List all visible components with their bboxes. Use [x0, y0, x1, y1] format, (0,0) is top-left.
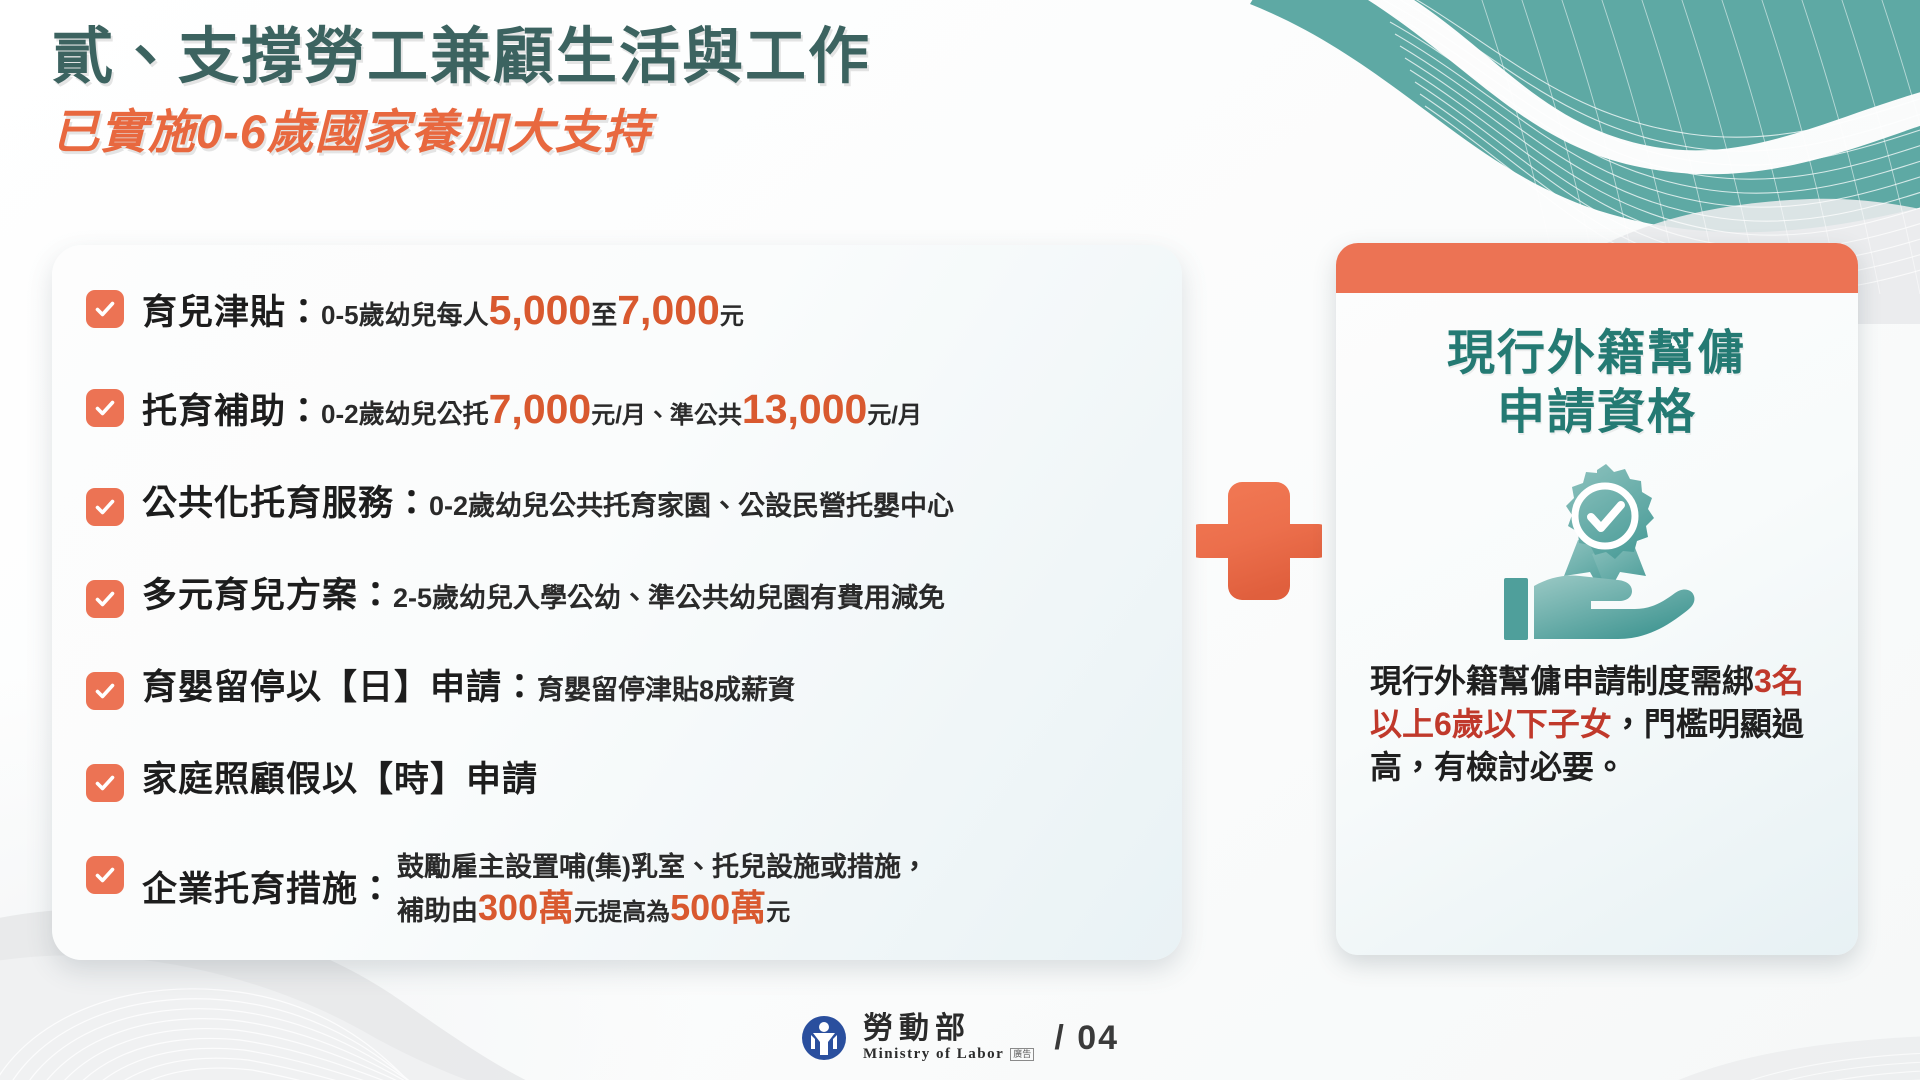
- check-icon: [86, 580, 124, 618]
- card-body-text: 現行外籍幫傭申請制度需綁3名以上6歲以下子女，門檻明顯過高，有檢討必要。: [1336, 660, 1858, 789]
- bullet-text-segment: 元/月: [867, 402, 922, 429]
- slide-header: 貳、支撐勞工兼顧生活與工作 已實施0-6歲國家養加大支持: [52, 22, 871, 158]
- logo-english-row: Ministry of Labor 廣告: [863, 1047, 1034, 1062]
- card-title-line2: 申請資格: [1447, 384, 1747, 443]
- list-item-lead: 育嬰留停以【日】申請: [142, 668, 502, 707]
- logo-chinese-name: 勞動部: [863, 1014, 1034, 1044]
- slide-footer: 勞動部 Ministry of Labor 廣告 / 04: [0, 1014, 1920, 1062]
- bullet-text-segment: 育嬰留停津貼8成薪資: [537, 675, 795, 705]
- medal-in-hand-icon: [1482, 462, 1712, 642]
- list-item: 家庭照顧假以【時】申請: [86, 757, 1148, 802]
- bullet-text-segment: 元/月、準公共: [591, 402, 742, 429]
- list-item-lead: 企業托育措施: [142, 870, 358, 909]
- list-item-lead: 公共化托育服務: [142, 484, 394, 523]
- advertisement-badge: 廣告: [1010, 1048, 1034, 1061]
- list-item: 育嬰留停以【日】申請：育嬰留停津貼8成薪資: [86, 665, 1148, 710]
- list-item-colon: ：: [358, 576, 393, 615]
- ministry-of-labor-logo-icon: [801, 1015, 847, 1061]
- page-number: / 04: [1054, 1019, 1119, 1058]
- bullet-text-segment: 7,000: [489, 386, 592, 432]
- list-item-lead: 家庭照顧假以【時】申請: [142, 760, 538, 799]
- check-icon: [86, 488, 124, 526]
- check-icon: [86, 764, 124, 802]
- list-item-text: 托育補助：0-2歲幼兒公托7,000元/月、準公共13,000元/月: [142, 382, 922, 434]
- list-item-lead: 多元育兒方案: [142, 576, 358, 615]
- check-icon: [86, 389, 124, 427]
- check-icon: [86, 672, 124, 710]
- list-item-colon: ：: [286, 293, 321, 332]
- list-item: 育兒津貼：0-5歲幼兒每人5,000至7,000元: [86, 283, 1148, 335]
- check-icon: [86, 856, 124, 894]
- list-item: 托育補助：0-2歲幼兒公托7,000元/月、準公共13,000元/月: [86, 382, 1148, 434]
- bullet-text-segment: 鼓勵雇主設置哺(集)乳室、托兒設施或措施，: [397, 852, 928, 882]
- slide-canvas: 貳、支撐勞工兼顧生活與工作 已實施0-6歲國家養加大支持 育兒津貼：0-5歲幼兒…: [0, 0, 1920, 1080]
- list-item: 企業托育措施：鼓勵雇主設置哺(集)乳室、托兒設施或措施，補助由300萬元提高為5…: [86, 849, 1148, 930]
- measures-card: 育兒津貼：0-5歲幼兒每人5,000至7,000元托育補助：0-2歲幼兒公托7,…: [52, 245, 1182, 960]
- card-accent-bar: [1336, 243, 1858, 293]
- page-title: 貳、支撐勞工兼顧生活與工作: [52, 22, 871, 90]
- list-item-lead: 育兒津貼: [142, 293, 286, 332]
- list-item-detail-lines: 鼓勵雇主設置哺(集)乳室、托兒設施或措施，補助由300萬元提高為500萬元: [397, 851, 928, 930]
- list-item-lead: 托育補助: [142, 392, 286, 431]
- bullet-text-segment: 0-2歲幼兒公托: [321, 399, 489, 429]
- list-item-text: 家庭照顧假以【時】申請: [142, 757, 538, 802]
- list-item-text: 企業托育措施：鼓勵雇主設置哺(集)乳室、托兒設施或措施，補助由300萬元提高為5…: [142, 849, 928, 930]
- bullet-text-segment: 300萬: [478, 887, 574, 928]
- bullet-text-segment: 5,000: [489, 287, 592, 333]
- bullet-text-segment: 0-2歲幼兒公共托育家園、公設民營托嬰中心: [429, 491, 954, 521]
- bullet-text-segment: 7,000: [617, 287, 720, 333]
- page-subtitle: 已實施0-6歲國家養加大支持: [52, 106, 871, 158]
- list-item-colon: ：: [358, 870, 393, 909]
- bullet-text-segment: 0-5歲幼兒每人: [321, 300, 489, 330]
- bullet-text-segment: 500萬: [670, 887, 766, 928]
- list-item-text: 公共化托育服務：0-2歲幼兒公共托育家園、公設民營托嬰中心: [142, 481, 954, 526]
- bullet-text-segment: 元提高為: [574, 899, 670, 926]
- list-item-colon: ：: [286, 392, 321, 431]
- bullet-text-segment: 元: [720, 303, 744, 330]
- list-item-lead-wrap: 企業托育措施：: [142, 869, 393, 912]
- list-item: 多元育兒方案：2-5歲幼兒入學公幼、準公共幼兒園有費用減免: [86, 573, 1148, 618]
- card-title-line1: 現行外籍幫傭: [1447, 325, 1747, 384]
- list-item-colon: ：: [502, 668, 537, 707]
- list-item-text: 多元育兒方案：2-5歲幼兒入學公幼、準公共幼兒園有費用減免: [142, 573, 945, 618]
- bullet-text-segment: 13,000: [742, 386, 867, 432]
- bullet-text-segment: 元: [766, 899, 790, 926]
- foreign-helper-card: 現行外籍幫傭 申請資格: [1336, 243, 1858, 955]
- list-item: 公共化托育服務：0-2歲幼兒公共托育家園、公設民營托嬰中心: [86, 481, 1148, 526]
- plus-icon: [1196, 478, 1322, 604]
- detail-line-1: 鼓勵雇主設置哺(集)乳室、托兒設施或措施，: [397, 851, 928, 884]
- logo-english-name: Ministry of Labor: [863, 1047, 1004, 1062]
- list-item-text: 育兒津貼：0-5歲幼兒每人5,000至7,000元: [142, 283, 744, 335]
- body-text-segment: 現行外籍幫傭申請制度需綁: [1370, 663, 1754, 699]
- card-title: 現行外籍幫傭 申請資格: [1447, 325, 1747, 442]
- check-icon: [86, 290, 124, 328]
- list-item-colon: ：: [394, 484, 429, 523]
- list-item-multiline: 企業托育措施：鼓勵雇主設置哺(集)乳室、托兒設施或措施，補助由300萬元提高為5…: [142, 851, 928, 930]
- ministry-of-labor-wordmark: 勞動部 Ministry of Labor 廣告: [863, 1014, 1034, 1062]
- bullet-text-segment: 補助由: [397, 896, 478, 926]
- list-item-text: 育嬰留停以【日】申請：育嬰留停津貼8成薪資: [142, 665, 795, 710]
- detail-line-2: 補助由300萬元提高為500萬元: [397, 886, 928, 930]
- bullet-text-segment: 2-5歲幼兒入學公幼、準公共幼兒園有費用減免: [393, 583, 945, 613]
- bullet-text-segment: 至: [591, 300, 617, 330]
